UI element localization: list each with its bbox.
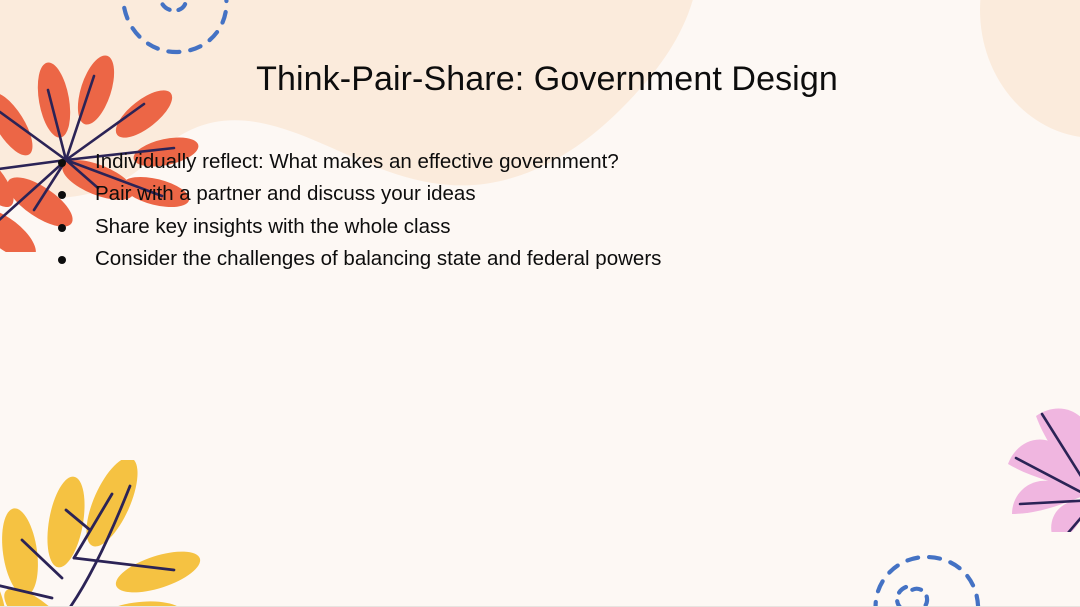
list-item: Consider the challenges of balancing sta… [52, 243, 992, 275]
bullet-dot-icon [58, 159, 66, 167]
list-item: Share key insights with the whole class [52, 211, 992, 243]
bullet-dot-icon [58, 191, 66, 199]
page-title: Think-Pair-Share: Government Design [0, 60, 1080, 99]
list-item: Pair with a partner and discuss your ide… [52, 178, 992, 210]
bullet-dot-icon [58, 224, 66, 232]
bullet-dot-icon [58, 256, 66, 264]
list-item-label: Pair with a partner and discuss your ide… [95, 182, 476, 205]
list-item-label: Share key insights with the whole class [95, 215, 451, 238]
list-item-label: Individually reflect: What makes an effe… [95, 150, 619, 173]
bullet-list: Individually reflect: What makes an effe… [52, 146, 992, 276]
list-item-label: Consider the challenges of balancing sta… [95, 247, 661, 270]
slide-content: Think-Pair-Share: Government Design Indi… [0, 0, 1080, 606]
slide-canvas: Think-Pair-Share: Government Design Indi… [0, 0, 1080, 607]
list-item: Individually reflect: What makes an effe… [52, 146, 992, 178]
